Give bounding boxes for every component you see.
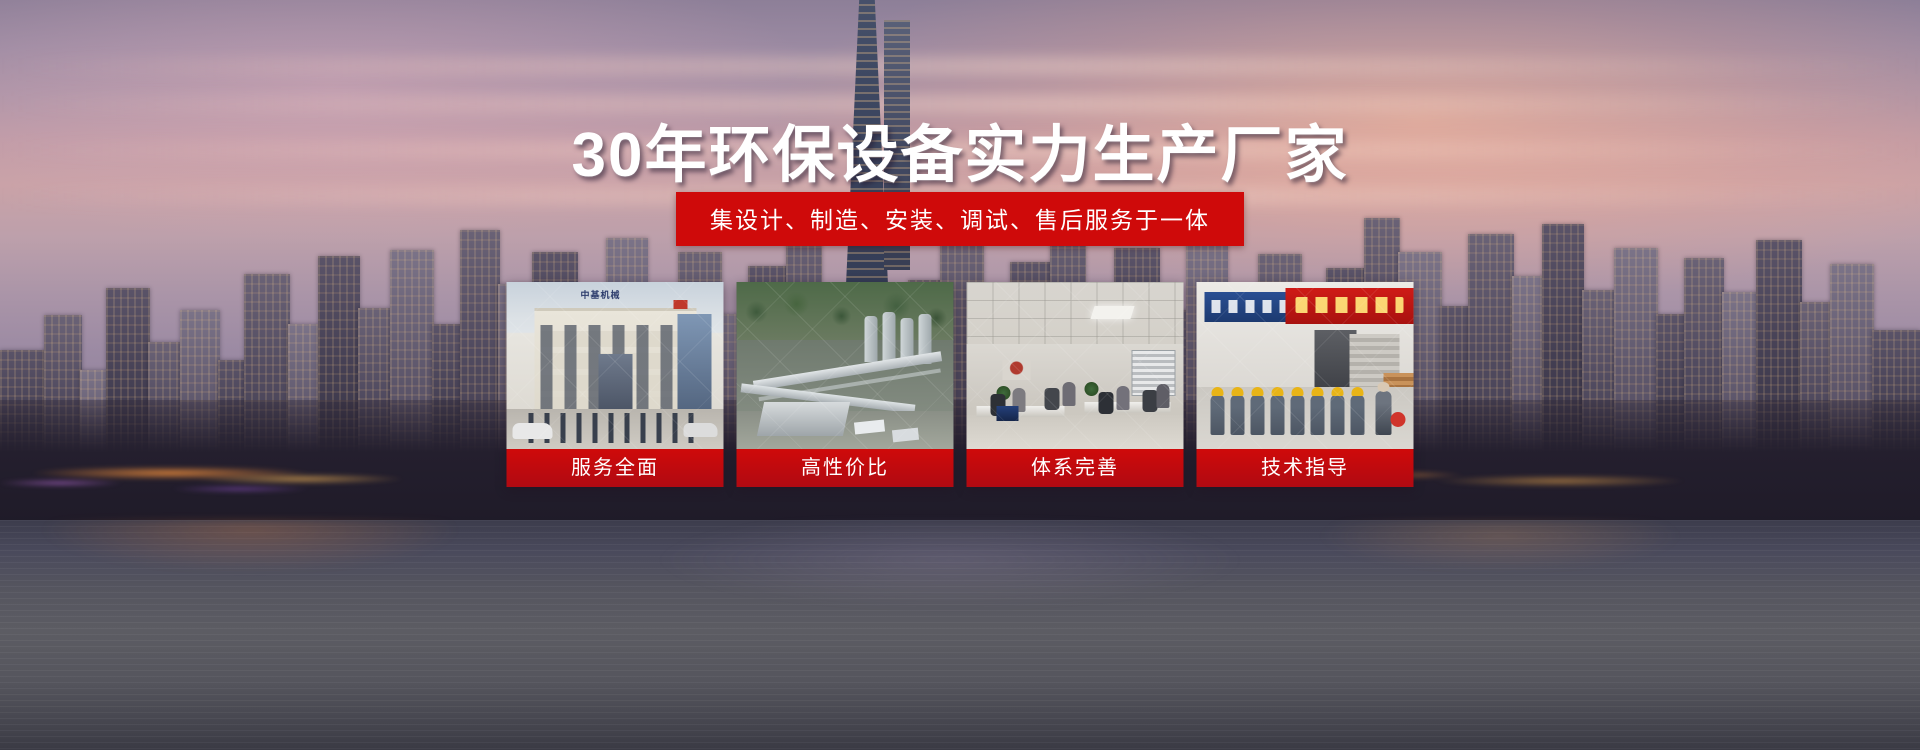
wall-logo [1003, 360, 1031, 380]
flag-icon [674, 300, 688, 309]
feature-card[interactable]: 技术指导 [1197, 282, 1414, 487]
aerial-production-plant-photo [737, 282, 954, 449]
wall-banner-blue [1205, 292, 1297, 322]
feature-card-label: 高性价比 [737, 449, 954, 487]
feature-card-label: 服务全面 [507, 449, 724, 487]
workshop-team-photo [1197, 282, 1414, 449]
feature-card[interactable]: 高性价比 [737, 282, 954, 487]
hero-banner: 30年环保设备实力生产厂家 集设计、制造、安装、调试、售后服务于一体 中基机械 [0, 0, 1920, 750]
feature-card-label: 体系完善 [967, 449, 1184, 487]
building-signage: 中基机械 [559, 289, 643, 302]
office-interior-photo [967, 282, 1184, 449]
feature-card[interactable]: 体系完善 [967, 282, 1184, 487]
banner-content: 30年环保设备实力生产厂家 集设计、制造、安装、调试、售后服务于一体 中基机械 [0, 0, 1920, 750]
company-headquarters-building-photo: 中基机械 [507, 282, 724, 449]
feature-card-row: 中基机械 服务全面 [507, 282, 1414, 487]
feature-card-label: 技术指导 [1197, 449, 1414, 487]
feature-card[interactable]: 中基机械 服务全面 [507, 282, 724, 487]
banner-headline: 30年环保设备实力生产厂家 [0, 104, 1920, 194]
wall-banner-red [1286, 288, 1414, 324]
hard-hat-icon [1391, 412, 1406, 427]
banner-subtitle-bar: 集设计、制造、安装、调试、售后服务于一体 [676, 192, 1244, 246]
